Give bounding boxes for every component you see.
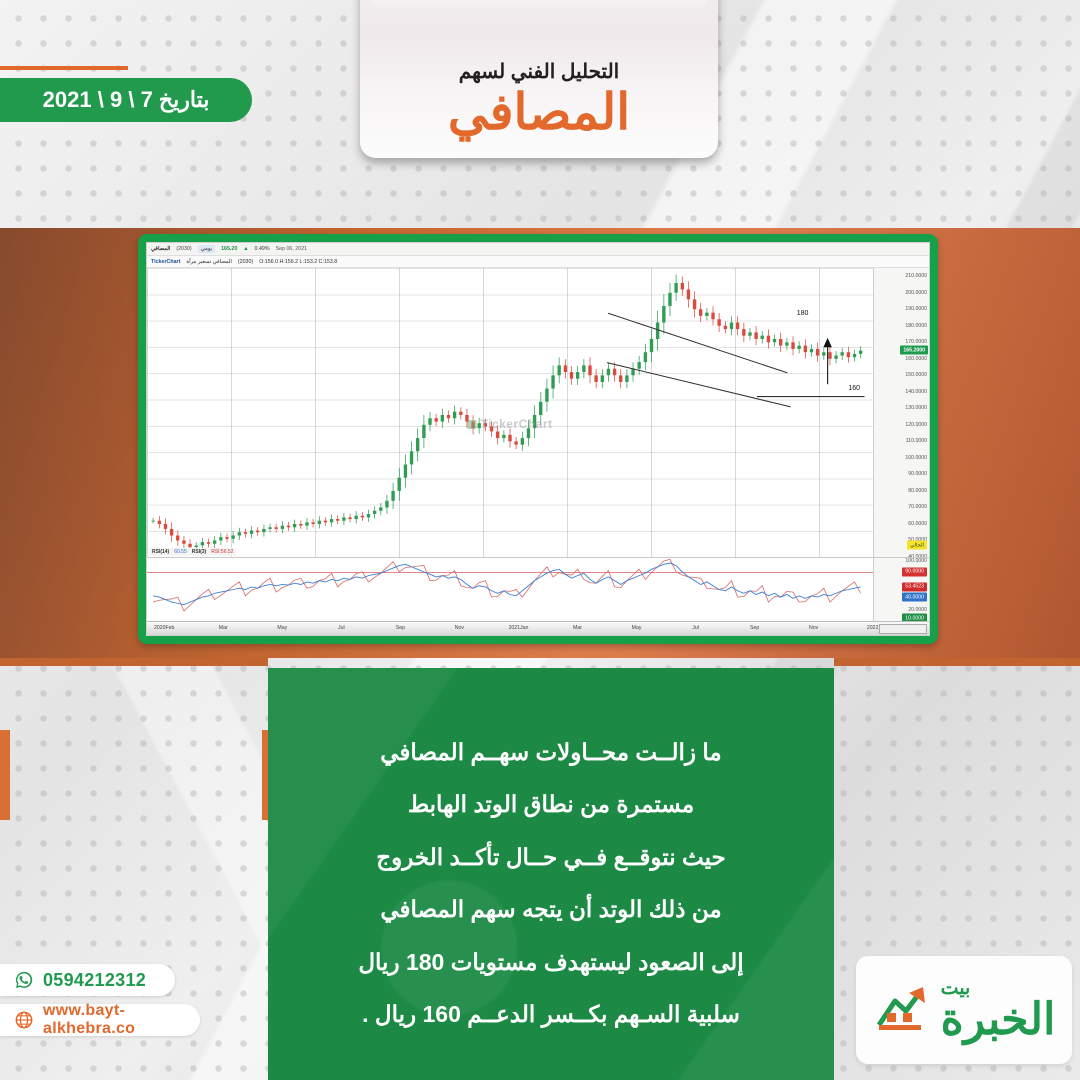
analysis-line: مستمرة من نطاق الوتد الهابط (298, 778, 804, 830)
time-axis[interactable]: 2020FebMarMayJulSepNov2021JanMarMayJulSe… (147, 621, 929, 635)
price-tick: 90.0000 (908, 471, 927, 477)
rsi-tick: 53.4523 (902, 582, 927, 591)
analysis-line: حيث نتوقــع فــي حــال تأكــد الخروج (298, 831, 804, 883)
chart-widget[interactable]: المصافي (2030) يومي 165.20 ▲ 0.49% Sep 0… (146, 242, 930, 636)
rsi-pane[interactable]: RSI(14) 60.55 RSI(3) RSI:56.52 (147, 557, 873, 621)
rsi-tick: 20.0000 (908, 607, 927, 613)
price-tick: 120.0000 (905, 422, 927, 428)
time-tick: Mar (573, 625, 582, 631)
chart-last-price: 165.20 (221, 246, 237, 252)
whatsapp-badge[interactable]: 0594212312 (0, 964, 175, 996)
time-tick: Nov (455, 625, 464, 631)
time-tick: 2022 (867, 625, 879, 631)
rsi-tick: 100.0000 (905, 558, 927, 564)
price-tick: 110.0000 (906, 438, 927, 444)
chart-series-name: المصافي تسعير مرآة (186, 259, 232, 265)
watermark-box-icon (468, 420, 477, 429)
time-tick: 2021Jan (508, 625, 528, 631)
current-price-tag: 165.2000 (900, 346, 928, 355)
rsi-value-2: RSI:56.52 (211, 549, 233, 555)
whatsapp-icon (14, 970, 34, 990)
strip-left (0, 658, 268, 666)
price-tick: 170.0000 (905, 339, 927, 345)
logo-big-word: الخبرة (941, 998, 1056, 1042)
price-plot[interactable]: 180 160 TickerChart (147, 268, 873, 557)
rsi-series (147, 558, 873, 621)
phone-number: 0594212312 (43, 970, 146, 991)
time-tick: 2020Feb (154, 625, 174, 631)
analysis-line: سلبية السـهم بكــسر الدعــم 160 ريال . (298, 988, 804, 1040)
annotation-support-160: 160 (848, 385, 860, 392)
annotation-target-180: 180 (797, 310, 809, 317)
analysis-panel: ما زالــت محــاولات سهــم المصافي مستمرة… (268, 668, 834, 1080)
chart-series-bar: TickerChart المصافي تسعير مرآة (2030) O:… (147, 256, 929, 268)
chart-period[interactable]: يومي (198, 245, 215, 253)
price-tick: 160.0000 (905, 356, 927, 362)
price-tick: 190.0000 (905, 306, 927, 312)
price-tick: 100.0000 (905, 455, 927, 461)
analysis-line: إلى الصعود ليستهدف مستويات 180 ريال (298, 936, 804, 988)
analysis-line: من ذلك الوتد أن يتجه سهم المصافي (298, 883, 804, 935)
price-axis[interactable]: 210.0000200.0000190.0000180.0000170.0000… (873, 268, 929, 557)
chart-symbol-code: (2030) (176, 246, 191, 252)
price-marker-yellow: الحالي (907, 541, 927, 550)
analysis-text: ما زالــت محــاولات سهــم المصافي مستمرة… (268, 668, 834, 1041)
chart-ohlc: O:156.0 H:156.2 L:153.2 C:153.8 (259, 259, 337, 265)
growth-arrow-house-icon (873, 979, 935, 1041)
chart-series-code: (2030) (238, 259, 253, 265)
chart-watermark: TickerChart (468, 417, 553, 431)
title-card: التحليل الفني لسهم المصافي (360, 0, 718, 158)
price-tick: 70.0000 (908, 504, 927, 510)
price-tick: 180.0000 (905, 323, 927, 329)
time-tick: Jul (338, 625, 345, 631)
date-badge: بتاريخ 7 \ 9 \ 2021 (0, 78, 252, 122)
price-tick: 60.0000 (908, 521, 927, 527)
time-tick: Sep (396, 625, 405, 631)
rsi-value-1: 60.55 (174, 549, 187, 555)
price-tick: 80.0000 (908, 488, 927, 494)
chart-provider: TickerChart (151, 259, 180, 265)
time-tick: Jul (692, 625, 699, 631)
rsi-tick: 40.0000 (902, 593, 927, 602)
up-arrow-icon: ▲ (243, 246, 248, 252)
globe-icon (14, 1010, 34, 1030)
website-badge[interactable]: www.bayt-alkhebra.co (0, 1004, 200, 1036)
pattern-annotation-lines (147, 268, 873, 557)
price-tick: 200.0000 (905, 290, 927, 296)
price-tick: 140.0000 (905, 389, 927, 395)
date-rule (0, 66, 128, 70)
time-tick: May (277, 625, 287, 631)
page-subtitle: التحليل الفني لسهم (459, 59, 619, 84)
contact-block: 0594212312 www.bayt-alkhebra.co (0, 964, 200, 1036)
time-tick: May (632, 625, 642, 631)
rsi-axis[interactable]: 100.000090.000053.452340.000020.000010.0… (873, 557, 929, 621)
price-tick: 150.0000 (905, 372, 927, 378)
chart-frame: المصافي (2030) يومي 165.20 ▲ 0.49% Sep 0… (138, 234, 938, 644)
time-tick: Nov (809, 625, 818, 631)
price-tick: 210.0000 (905, 273, 927, 279)
time-tick: Mar (219, 625, 228, 631)
chart-quote-date: Sep 06, 2021 (276, 246, 308, 252)
brand-logo[interactable]: بيت الخبرة (856, 956, 1072, 1064)
chart-change-pct: 0.49% (255, 246, 270, 252)
price-tick: 130.0000 (905, 405, 927, 411)
website-url: www.bayt-alkhebra.co (43, 1002, 178, 1038)
logo-text: بيت الخبرة (941, 979, 1056, 1042)
analysis-line: ما زالــت محــاولات سهــم المصافي (298, 726, 804, 778)
rsi-label-2: RSI(3) (192, 549, 206, 555)
page-title: المصافي (448, 86, 630, 139)
chart-symbol-ar: المصافي (151, 246, 170, 252)
strip-right (834, 658, 1080, 666)
chart-quote-bar: المصافي (2030) يومي 165.20 ▲ 0.49% Sep 0… (147, 243, 929, 256)
rsi-header: RSI(14) 60.55 RSI(3) RSI:56.52 (149, 548, 236, 556)
rsi-label: RSI(14) (152, 549, 169, 555)
time-tick: Sep (750, 625, 759, 631)
watermark-text: TickerChart (481, 417, 553, 431)
rsi-tick: 90.0000 (902, 567, 927, 576)
accent-tick-left (0, 730, 10, 820)
chart-scrollbar[interactable] (879, 624, 927, 634)
